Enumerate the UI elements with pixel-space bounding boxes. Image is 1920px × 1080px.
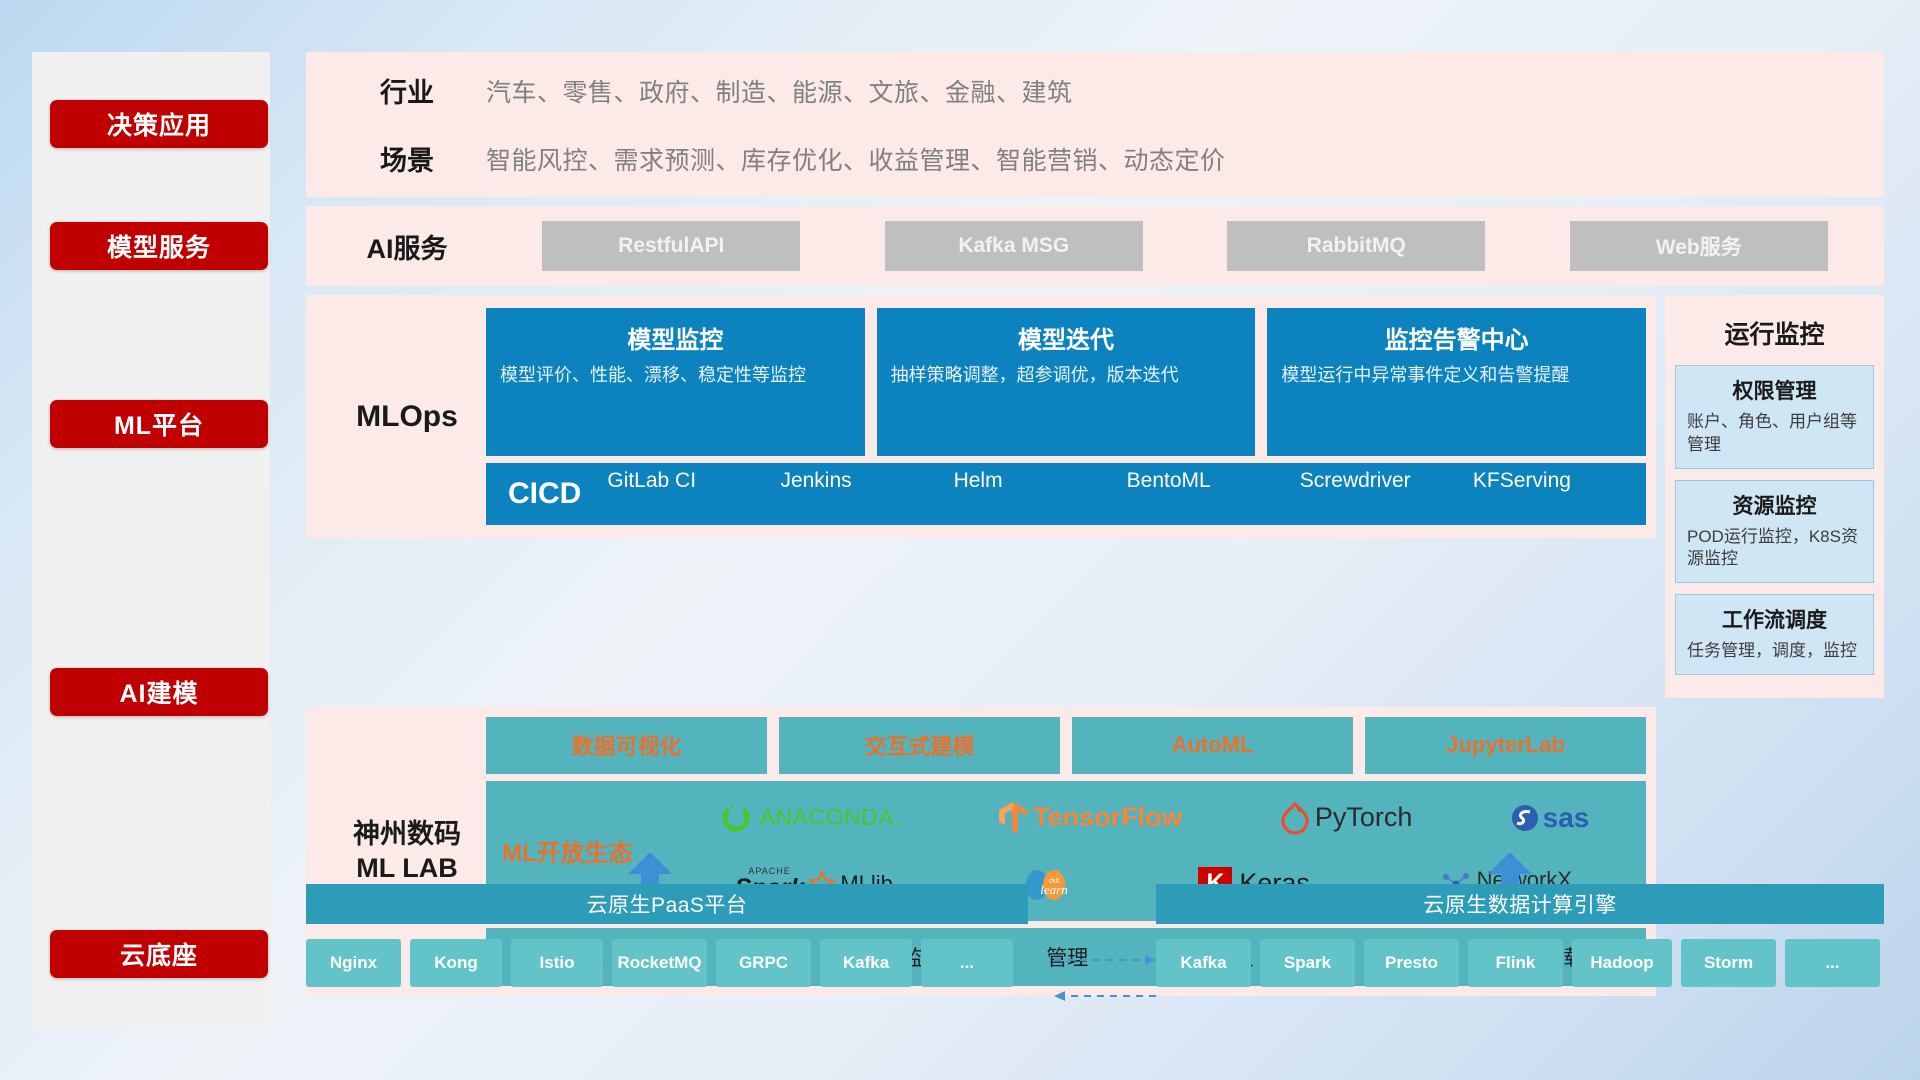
layer-tag-label: 决策应用 [107,106,211,142]
cicd-item-bentoml[interactable]: BentoML [1127,467,1300,521]
mlops-band: MLOps 模型监控 模型评价、性能、漂移、稳定性等监控 模型迭代 抽样策略调整… [306,295,1656,538]
mlops-cards: 模型监控 模型评价、性能、漂移、稳定性等监控 模型迭代 抽样策略调整，超参调优，… [486,308,1646,456]
paas-column: 云原生PaaS平台 Nginx Kong Istio RocketMQ GRPC… [306,884,1028,987]
paas-chip-istio[interactable]: Istio [511,939,603,987]
pytorch-icon [1280,801,1310,835]
ecosystem-logo-row-1: ANACONDA. TensorFlow [670,786,1638,850]
mlops-content: 模型监控 模型评价、性能、漂移、稳定性等监控 模型迭代 抽样策略调整，超参调优，… [486,308,1656,525]
monitor-card-desc: 账户、角色、用户组等管理 [1687,411,1862,457]
engine-chip-spark[interactable]: Spark [1260,939,1355,987]
mlops-zone: MLOps 模型监控 模型评价、性能、漂移、稳定性等监控 模型迭代 抽样策略调整… [306,295,1884,698]
main-stack: 行业 汽车、零售、政府、制造、能源、文旅、金融、建筑 场景 智能风控、需求预测、… [306,52,1884,996]
monitor-card-title: 权限管理 [1687,375,1862,405]
engine-title: 云原生数据计算引擎 [1156,884,1884,924]
industry-label: 行业 [328,71,486,110]
paas-chip-rocketmq[interactable]: RocketMQ [612,939,707,987]
ai-service-chip-restfulapi[interactable]: RestfulAPI [542,221,800,271]
mlops-card-title: 模型监控 [500,320,851,355]
mlops-card-desc: 抽样策略调整，超参调优，版本迭代 [891,364,1242,388]
mlops-card-model-monitoring[interactable]: 模型监控 模型评价、性能、漂移、稳定性等监控 [486,308,865,456]
engine-chip-hadoop[interactable]: Hadoop [1572,939,1672,987]
cicd-item-jenkins[interactable]: Jenkins [780,467,953,521]
mlops-card-alert-center[interactable]: 监控告警中心 模型运行中异常事件定义和告警提醒 [1267,308,1646,456]
engine-column: 云原生数据计算引擎 Kafka Spark Presto Flink Hadoo… [1156,884,1884,987]
ai-service-chips: RestfulAPI Kafka MSG RabbitMQ Web服务 [486,221,1884,271]
mlops-card-title: 监控告警中心 [1281,320,1632,355]
cicd-item-helm[interactable]: Helm [954,467,1127,521]
scenario-label: 场景 [328,139,486,178]
runtime-monitor-title: 运行监控 [1724,315,1824,351]
engine-chip-flink[interactable]: Flink [1468,939,1563,987]
lab-tool-automl[interactable]: AutoML [1072,717,1353,774]
layer-tag-model-service[interactable]: 模型服务 [50,222,268,270]
engine-chip-kafka[interactable]: Kafka [1156,939,1251,987]
monitor-card-desc: 任务管理，调度，监控 [1687,640,1862,663]
lab-tool-interactive-modeling[interactable]: 交互式建模 [779,717,1060,774]
pytorch-logo: PyTorch [1280,801,1413,835]
runtime-monitor-panel: 运行监控 权限管理 账户、角色、用户组等管理 资源监控 POD运行监控，K8S资… [1665,295,1884,698]
layer-tag-label: AI建模 [119,674,198,710]
pytorch-label: PyTorch [1315,802,1413,833]
sas-label: sas [1543,802,1590,834]
mlops-card-model-iteration[interactable]: 模型迭代 抽样策略调整，超参调优，版本迭代 [877,308,1256,456]
ai-service-band: AI服务 RestfulAPI Kafka MSG RabbitMQ Web服务 [306,206,1884,286]
mlops-label: MLOps [328,400,486,434]
layer-tag-ai-modeling[interactable]: AI建模 [50,668,268,716]
monitor-card-resource[interactable]: 资源监控 POD运行监控，K8S资源监控 [1675,480,1874,584]
industry-value: 汽车、零售、政府、制造、能源、文旅、金融、建筑 [486,73,1073,109]
sas-logo: sas [1510,802,1590,834]
paas-chips: Nginx Kong Istio RocketMQ GRPC Kafka ... [306,939,1028,987]
ml-lab-label: 神州数码 ML LAB [328,817,486,886]
layer-rail [32,52,270,1028]
tensorflow-icon [998,800,1028,836]
cicd-title: CICD [486,477,607,511]
anaconda-icon [719,801,753,835]
cicd-item-screwdriver[interactable]: Screwdriver [1300,467,1473,521]
paas-chip-kong[interactable]: Kong [410,939,502,987]
cicd-bar: CICD GitLab CI Jenkins Helm BentoML Scre… [486,463,1646,525]
lab-tool-data-viz[interactable]: 数据可视化 [486,717,767,774]
cloud-base-zone: 云原生PaaS平台 Nginx Kong Istio RocketMQ GRPC… [306,884,1884,1034]
engine-chip-presto[interactable]: Presto [1364,939,1459,987]
engine-chips: Kafka Spark Presto Flink Hadoop Storm ..… [1156,939,1884,987]
layer-tag-label: 云底座 [120,936,198,972]
ai-service-label: AI服务 [328,227,486,266]
monitor-card-permission[interactable]: 权限管理 账户、角色、用户组等管理 [1675,365,1874,469]
paas-chip-more[interactable]: ... [921,939,1013,987]
cicd-item-kfserving[interactable]: KFServing [1473,467,1646,521]
layer-tag-label: ML平台 [114,406,204,442]
industry-row: 行业 汽车、零售、政府、制造、能源、文旅、金融、建筑 [328,62,1884,120]
layer-tag-decision[interactable]: 决策应用 [50,100,268,148]
industry-scenario-band: 行业 汽车、零售、政府、制造、能源、文旅、金融、建筑 场景 智能风控、需求预测、… [306,52,1884,197]
sas-icon [1510,803,1540,833]
engine-chip-storm[interactable]: Storm [1681,939,1776,987]
ai-service-chip-kafka-msg[interactable]: Kafka MSG [885,221,1143,271]
mlops-card-desc: 模型运行中异常事件定义和告警提醒 [1281,364,1632,388]
paas-chip-grpc[interactable]: GRPC [716,939,811,987]
layer-tag-cloud-base[interactable]: 云底座 [50,930,268,978]
monitor-card-title: 工作流调度 [1687,604,1862,634]
architecture-diagram: 决策应用 模型服务 ML平台 AI建模 云底座 行业 汽车、零售、政府、制造、能… [0,0,1920,1080]
scenario-value: 智能风控、需求预测、库存优化、收益管理、智能营销、动态定价 [486,141,1226,177]
mlops-card-desc: 模型评价、性能、漂移、稳定性等监控 [500,364,851,388]
engine-chip-more[interactable]: ... [1785,939,1880,987]
paas-chip-nginx[interactable]: Nginx [306,939,401,987]
layer-tag-ml-platform[interactable]: ML平台 [50,400,268,448]
tensorflow-label: TensorFlow [1033,802,1183,833]
scenario-row: 场景 智能风控、需求预测、库存优化、收益管理、智能营销、动态定价 [328,130,1884,188]
monitor-card-desc: POD运行监控，K8S资源监控 [1687,526,1862,572]
ai-service-chip-web-service[interactable]: Web服务 [1570,221,1828,271]
ml-lab-tools: 数据可视化 交互式建模 AutoML JupyterLab [486,717,1646,774]
ml-lab-label-line2: ML LAB [328,851,486,886]
mlops-card-title: 模型迭代 [891,320,1242,355]
monitor-card-title: 资源监控 [1687,490,1862,520]
monitor-card-workflow[interactable]: 工作流调度 任务管理，调度，监控 [1675,594,1874,675]
ml-lab-label-line1: 神州数码 [328,817,486,852]
cicd-item-gitlab-ci[interactable]: GitLab CI [607,467,780,521]
anaconda-logo: ANACONDA. [719,801,901,835]
tensorflow-logo: TensorFlow [998,800,1183,836]
anaconda-label: ANACONDA. [760,804,901,831]
paas-chip-kafka[interactable]: Kafka [820,939,912,987]
ai-service-chip-rabbitmq[interactable]: RabbitMQ [1227,221,1485,271]
layer-tag-label: 模型服务 [107,228,211,264]
paas-title: 云原生PaaS平台 [306,884,1028,924]
lab-tool-jupyterlab[interactable]: JupyterLab [1365,717,1646,774]
